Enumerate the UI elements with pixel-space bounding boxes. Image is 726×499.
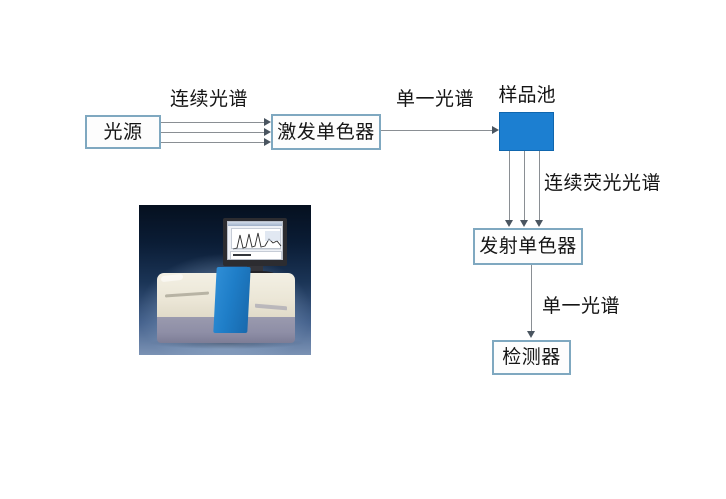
beam-source-to-excitation-3 (161, 142, 265, 143)
node-light-source: 光源 (85, 115, 161, 149)
software-spectrum-plot (231, 228, 281, 249)
arrowhead-excitation-to-sample (492, 126, 499, 134)
arrowhead-sample-to-emission-3 (535, 220, 543, 227)
arrowhead-source-to-excitation-3 (264, 138, 271, 146)
beam-sample-to-emission-2 (524, 151, 525, 222)
arrowhead-sample-to-emission-2 (520, 220, 528, 227)
edge-label-continuous-fluorescence-spectrum: 连续荧光光谱 (544, 168, 661, 195)
software-titlebar (228, 222, 282, 226)
beam-source-to-excitation-1 (161, 122, 265, 123)
node-detector: 检测器 (492, 340, 571, 375)
beam-source-to-excitation-2 (161, 132, 265, 133)
node-sample-cell-label: 样品池 (491, 80, 563, 107)
edge-label-continuous-spectrum: 连续光谱 (170, 84, 248, 111)
beam-sample-to-emission-1 (509, 151, 510, 222)
node-emission-monochromator-label: 发射单色器 (479, 237, 577, 256)
node-detector-label: 检测器 (502, 348, 561, 367)
software-status-panel (230, 251, 282, 260)
beam-emission-to-detector (531, 265, 532, 333)
node-sample-cell (499, 112, 554, 151)
arrowhead-source-to-excitation-2 (264, 128, 271, 136)
beam-excitation-to-sample (381, 130, 493, 131)
node-excitation-monochromator: 激发单色器 (271, 114, 381, 150)
node-light-source-label: 光源 (103, 123, 142, 142)
monitor-screen (227, 221, 283, 260)
edge-label-single-spectrum-excitation: 单一光谱 (396, 84, 474, 111)
node-emission-monochromator: 发射单色器 (473, 228, 583, 265)
arrowhead-source-to-excitation-1 (264, 118, 271, 126)
arrowhead-emission-to-detector (527, 331, 535, 338)
spectrum-curve-icon (232, 229, 282, 250)
instrument-blue-sample-door (213, 267, 250, 333)
edge-label-single-spectrum-detector: 单一光谱 (542, 291, 620, 318)
arrowhead-sample-to-emission-1 (505, 220, 513, 227)
node-excitation-monochromator-label: 激发单色器 (277, 123, 375, 142)
diagram-canvas: 光源 激发单色器 样品池 发射单色器 检测器 连续光谱 单一光谱 连续荧光光谱 … (0, 0, 726, 499)
beam-sample-to-emission-3 (539, 151, 540, 222)
instrument-photo (139, 205, 311, 355)
